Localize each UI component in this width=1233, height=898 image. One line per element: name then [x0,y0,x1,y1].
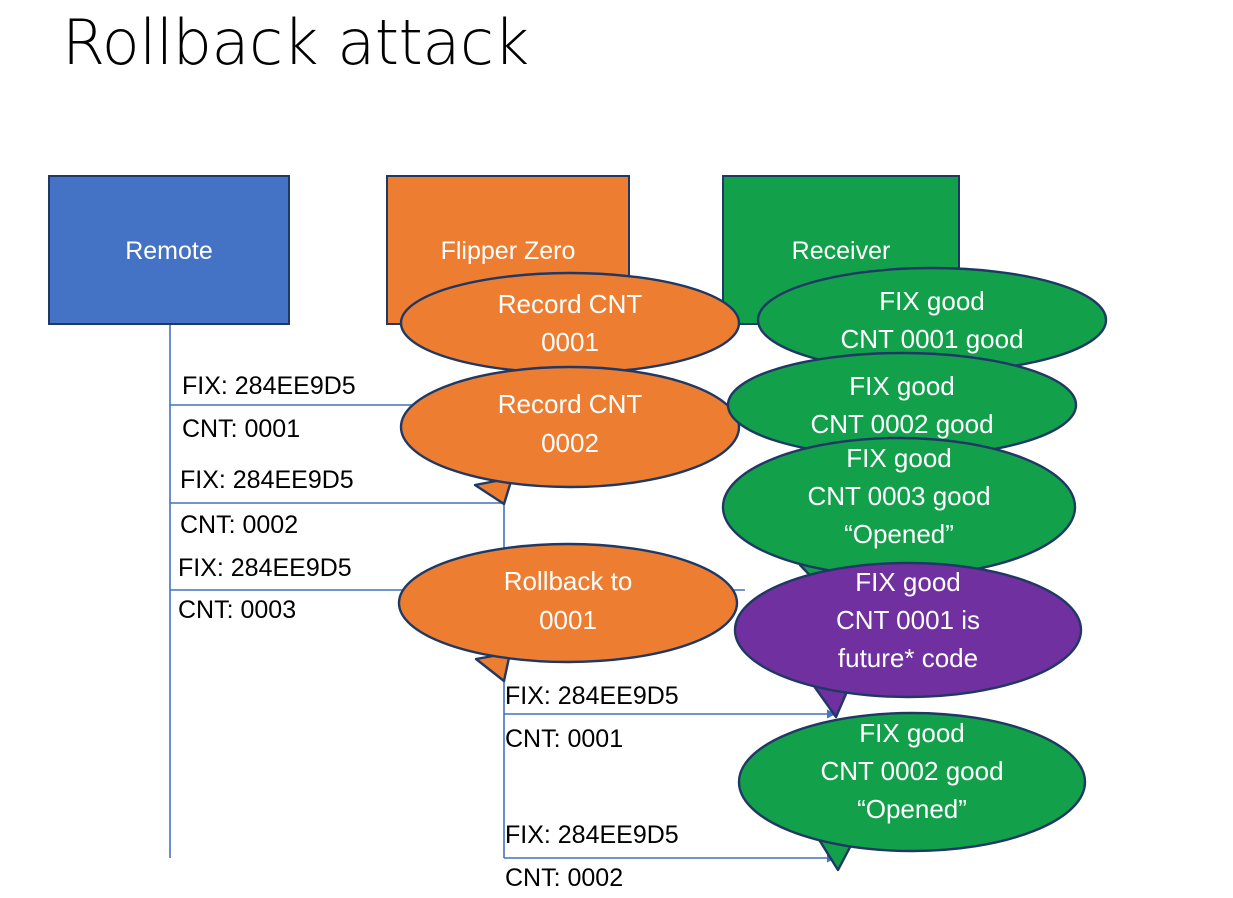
message-label-2-fix: FIX: 284EE9D5 [180,466,354,495]
callout-line-1: Record CNT [418,385,722,423]
callout-receiver-cnt-0002-opened[interactable]: FIX good CNT 0002 good “Opened” [738,712,1086,854]
slide-canvas: Rollback attack Remote Flipper Zero Rece… [0,0,1233,898]
message-label-5-cnt: CNT: 0002 [505,864,623,893]
callout-line-2: 0001 [418,323,722,361]
actor-label-remote: Remote [125,237,213,266]
callout-line-2: CNT 0003 good [740,477,1058,515]
callout-line-3: future* code [752,639,1064,677]
callout-line-1: FIX good [752,563,1064,601]
callout-line-2: CNT 0002 good [756,752,1068,790]
message-label-5-fix: FIX: 284EE9D5 [505,821,679,850]
message-label-2-cnt: CNT: 0002 [180,511,298,540]
actor-label-flipper: Flipper Zero [441,237,576,266]
message-label-4-cnt: CNT: 0001 [505,725,623,754]
callout-line-2: 0002 [418,424,722,462]
actor-label-receiver: Receiver [792,237,891,266]
callout-receiver-future-code[interactable]: FIX good CNT 0001 is future* code [734,562,1082,702]
callout-rollback-to-0001[interactable]: Rollback to 0001 [398,543,738,678]
callout-line-2: CNT 0001 is [752,601,1064,639]
message-label-3-cnt: CNT: 0003 [178,596,296,625]
callout-line-1: FIX good [775,282,1089,320]
callout-receiver-cnt-0003-opened[interactable]: FIX good CNT 0003 good “Opened” [722,437,1076,579]
actor-box-remote[interactable]: Remote [48,175,290,325]
callout-record-cnt-0002[interactable]: Record CNT 0002 [400,365,740,500]
callout-line-1: FIX good [740,439,1058,477]
message-label-1-cnt: CNT: 0001 [182,415,300,444]
message-label-3-fix: FIX: 284EE9D5 [178,554,352,583]
message-label-1-fix: FIX: 284EE9D5 [182,372,356,401]
callout-line-1: Record CNT [418,285,722,323]
callout-line-2: 0001 [416,601,720,639]
callout-line-3: “Opened” [740,515,1058,553]
callout-record-cnt-0001[interactable]: Record CNT 0001 [400,272,740,374]
callout-line-1: FIX good [745,367,1059,405]
callout-line-1: Rollback to [416,562,720,600]
callout-line-3: “Opened” [756,790,1068,828]
